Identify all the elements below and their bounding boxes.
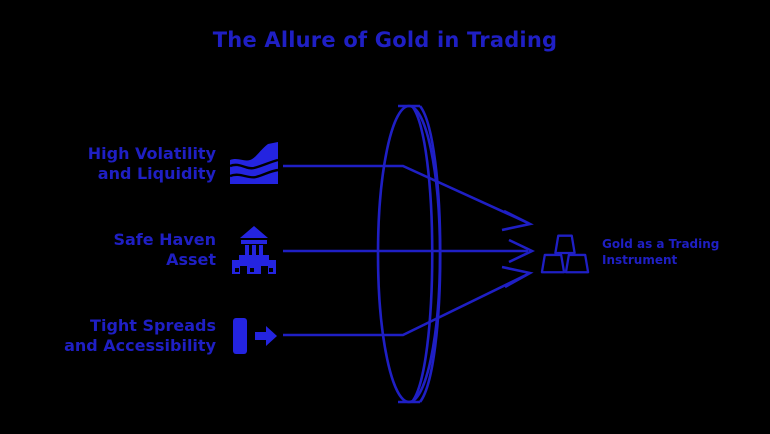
connector-line-1 xyxy=(283,166,528,223)
arrowhead-1 xyxy=(502,211,530,230)
page-title: The Allure of Gold in Trading xyxy=(0,28,770,52)
lens-edge-front xyxy=(420,106,440,402)
connector-line-3 xyxy=(283,274,528,335)
output-label: Gold as a Trading Instrument xyxy=(602,237,719,268)
arrowhead-3 xyxy=(502,267,530,287)
feature-label: High Volatility and Liquidity xyxy=(88,144,216,183)
lens-outer-ellipse xyxy=(378,106,440,402)
lens-edge-back xyxy=(412,106,432,402)
feature-label: Safe Haven Asset xyxy=(113,230,216,269)
arrowhead-2 xyxy=(509,240,532,262)
feature-label: Tight Spreads and Accessibility xyxy=(64,316,216,355)
bar-and-arrow-icon xyxy=(228,310,280,362)
feature-item-safe-haven[interactable]: Safe Haven Asset xyxy=(40,224,280,276)
feature-item-high-volatility[interactable]: High Volatility and Liquidity xyxy=(40,138,280,190)
gold-bars-icon xyxy=(540,228,590,278)
output-item-gold[interactable]: Gold as a Trading Instrument xyxy=(540,224,765,282)
lens-icon xyxy=(0,0,770,434)
feature-item-tight-spreads[interactable]: Tight Spreads and Accessibility xyxy=(40,310,280,362)
diagram-canvas: The Allure of Gold in Trading High Volat… xyxy=(0,0,770,434)
bank-building-icon xyxy=(228,224,280,276)
connector-lines xyxy=(0,0,770,434)
area-chart-icon xyxy=(228,138,280,190)
